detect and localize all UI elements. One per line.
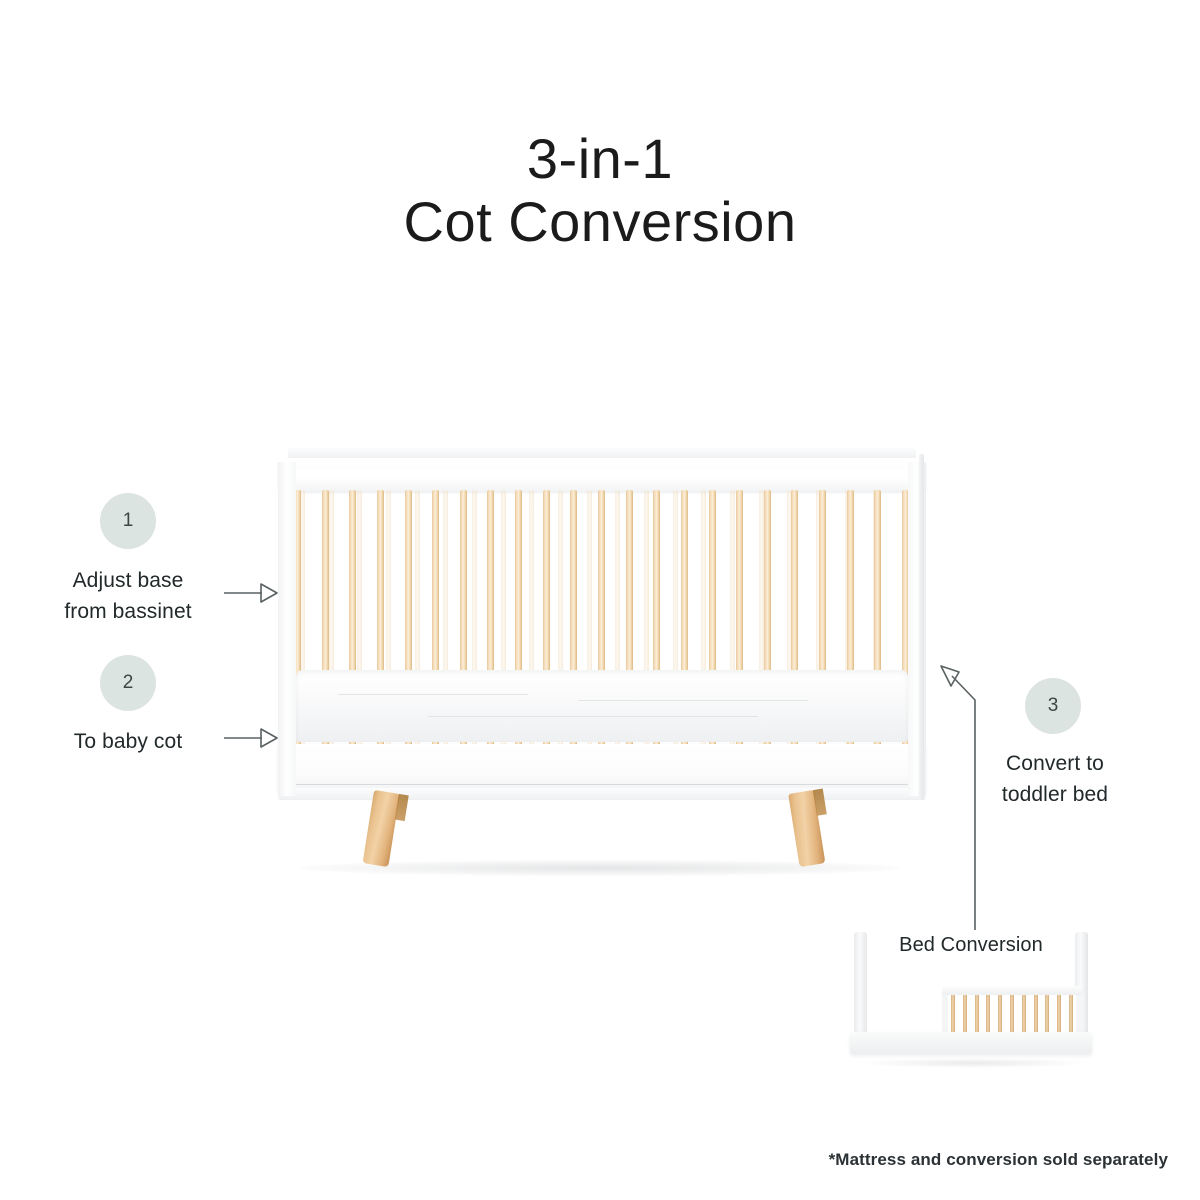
cot-corner-post-right-edge <box>919 454 924 800</box>
cot-corner-post-left <box>278 462 296 796</box>
cot-leg-left-inner-face <box>395 794 409 821</box>
step-badge-1-number: 1 <box>123 510 134 532</box>
cot-base-divider <box>284 784 920 785</box>
step-label-3: Convert to toddler bed <box>955 748 1155 810</box>
step-badge-2: 2 <box>100 655 156 711</box>
bed-kit-guard-slats <box>948 995 1076 1033</box>
cot-illustration <box>278 448 926 868</box>
mattress-crease <box>338 694 528 695</box>
step-badge-1: 1 <box>100 493 156 549</box>
mattress-crease <box>428 716 758 717</box>
page-title: 3-in-1 Cot Conversion <box>0 128 1200 253</box>
cot-mattress <box>296 670 908 742</box>
bed-kit-slat <box>998 995 1002 1033</box>
step-label-1: Adjust base from bassinet <box>20 565 236 627</box>
cot-leg-left <box>363 790 400 867</box>
footer-disclaimer: *Mattress and conversion sold separately <box>829 1150 1168 1170</box>
cot-base-panel <box>278 744 926 794</box>
mattress-crease <box>578 700 808 701</box>
bed-kit-slat <box>1010 995 1014 1033</box>
title-line-primary: 3-in-1 <box>0 128 1200 191</box>
step-label-2: To baby cot <box>20 726 236 757</box>
bed-kit-slat <box>951 995 955 1033</box>
bed-kit-slat <box>1069 995 1073 1033</box>
bed-kit-slat <box>1057 995 1061 1033</box>
bed-kit-guard-top-rail <box>942 986 1082 995</box>
bed-kit-slat <box>975 995 979 1033</box>
step-badge-3-number: 3 <box>1048 695 1059 717</box>
bed-kit-bottom-rail <box>850 1032 1092 1054</box>
step-badge-3: 3 <box>1025 678 1081 734</box>
bed-kit-slat <box>963 995 967 1033</box>
cot-top-rail-highlight <box>282 460 922 469</box>
bed-kit-slat <box>1034 995 1038 1033</box>
title-line-secondary: Cot Conversion <box>0 191 1200 254</box>
bed-conversion-label: Bed Conversion <box>842 934 1100 957</box>
bed-kit-slat <box>1022 995 1026 1033</box>
product-infographic: 3-in-1 Cot Conversion Be <box>0 0 1200 1200</box>
cot-leg-right <box>788 790 825 867</box>
step-badge-2-number: 2 <box>123 672 134 694</box>
bed-kit-slat <box>986 995 990 1033</box>
bed-kit-slat <box>1045 995 1049 1033</box>
